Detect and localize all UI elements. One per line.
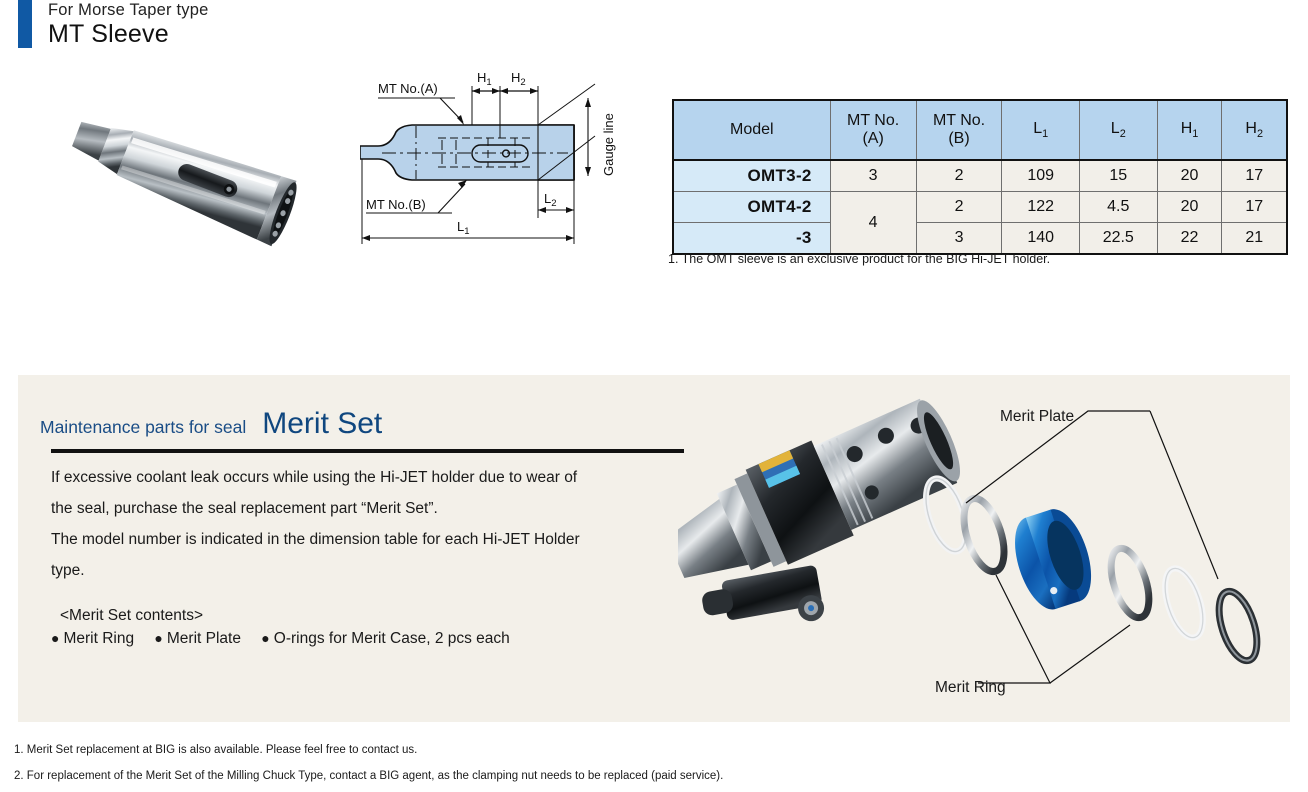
cell-model: OMT3-2 [673,160,830,192]
page-title-block: For Morse Taper type MT Sleeve [18,0,438,52]
cell-model: OMT4-2 [673,192,830,223]
svg-text:L2: L2 [544,191,557,209]
cell-h2: 17 [1222,192,1287,223]
list-item-label: O-rings for Merit Case, 2 pcs each [274,630,510,647]
svg-text:H2: H2 [511,70,526,88]
callout-label-merit-ring: Merit Ring [935,679,1006,697]
header-model: Model [673,100,830,160]
header-h1: H1 [1157,100,1222,160]
callout-label-merit-plate: Merit Plate [1000,408,1074,426]
merit-body-text: If excessive coolant leak occurs while u… [51,462,691,586]
list-item-label: Merit Ring [63,630,134,647]
cell-l2: 22.5 [1080,223,1158,255]
bullet-icon: ● [261,630,269,646]
header-l2: L2 [1080,100,1158,160]
cell-h1: 20 [1157,192,1222,223]
merit-body-line-4: type. [51,555,691,586]
cell-mt-a-merged: 4 [830,192,916,255]
merit-heading-title: Merit Set [262,407,382,440]
merit-body-line-2: the seal, purchase the seal replacement … [51,493,691,524]
merit-heading-subtitle: Maintenance parts for seal [40,417,246,437]
cell-mt-a: 3 [830,160,916,192]
bottom-note-2: 2. For replacement of the Merit Set of t… [14,763,1294,789]
merit-contents-list: ●Merit Ring ●Merit Plate ●O-rings for Me… [51,630,526,648]
bullet-icon: ● [51,630,59,646]
table-row: OMT3-2 3 2 109 15 20 17 [673,160,1287,192]
cell-l1: 122 [1002,192,1080,223]
gauge-line-label: Gauge line [601,113,616,176]
table-row: OMT4-2 4 2 122 4.5 20 17 [673,192,1287,223]
merit-set-heading: Maintenance parts for sealMerit Set [40,407,382,441]
page-title: MT Sleeve [48,20,169,49]
svg-text:L1: L1 [457,219,470,237]
cell-h2: 17 [1222,160,1287,192]
cell-l2: 4.5 [1080,192,1158,223]
table-row: -3 3 140 22.5 22 21 [673,223,1287,255]
title-accent-bar [18,0,32,48]
merit-set-panel: Maintenance parts for sealMerit Set If e… [18,375,1290,722]
cell-l2: 15 [1080,160,1158,192]
merit-body-line-3: The model number is indicated in the dim… [51,524,691,555]
cell-mt-b: 2 [916,160,1002,192]
svg-text:MT No.(B): MT No.(B) [366,197,426,212]
list-item: ●Merit Ring [51,630,134,647]
bottom-notes: 1. Merit Set replacement at BIG is also … [14,737,1294,789]
cell-h1: 22 [1157,223,1222,255]
header-l1: L1 [1002,100,1080,160]
mt-sleeve-technical-drawing: H1 H2 Gauge line MT No.(A) MT No.(B) [360,58,660,253]
spec-table: Model MT No. (A) MT No. (B) L1 L2 H1 [672,99,1288,255]
spec-table-header-row: Model MT No. (A) MT No. (B) L1 L2 H1 [673,100,1287,160]
bullet-icon: ● [154,630,162,646]
list-item: ●O-rings for Merit Case, 2 pcs each [261,630,510,647]
list-item-label: Merit Plate [167,630,241,647]
cell-mt-b: 3 [916,223,1002,255]
spec-table-note: 1. The OMT sleeve is an exclusive produc… [668,252,1050,266]
merit-set-exploded-photo [678,383,1290,703]
list-item: ●Merit Plate [154,630,241,647]
bottom-note-1: 1. Merit Set replacement at BIG is also … [14,737,1294,763]
merit-body-line-1: If excessive coolant leak occurs while u… [51,462,691,493]
svg-text:MT No.(A): MT No.(A) [378,81,438,96]
cell-model: -3 [673,223,830,255]
cell-l1: 109 [1002,160,1080,192]
header-h2: H2 [1222,100,1287,160]
cell-mt-b: 2 [916,192,1002,223]
merit-contents-title: <Merit Set contents> [60,607,203,625]
header-mt-no-a: MT No. (A) [830,100,916,160]
cell-l1: 140 [1002,223,1080,255]
merit-heading-rule [51,449,684,453]
cell-h2: 21 [1222,223,1287,255]
mt-sleeve-product-photo [58,100,308,255]
svg-text:H1: H1 [477,70,492,88]
header-mt-no-b: MT No. (B) [916,100,1002,160]
cell-h1: 20 [1157,160,1222,192]
spec-table-wrapper: Model MT No. (A) MT No. (B) L1 L2 H1 [672,99,1288,255]
page-subtitle: For Morse Taper type [48,1,209,20]
